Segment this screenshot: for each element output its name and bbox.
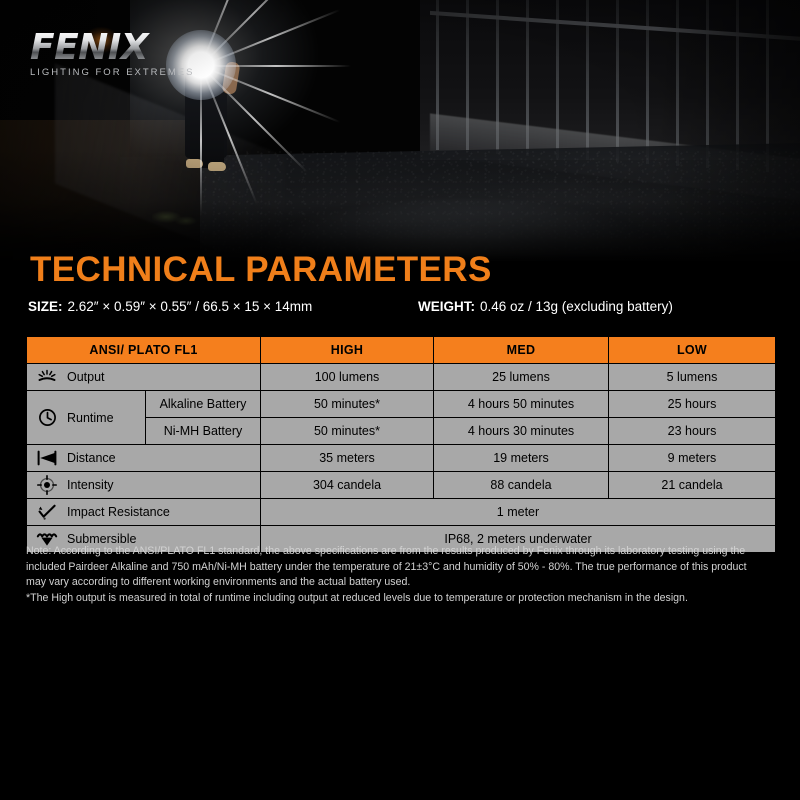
product-spec-page: FENIX LIGHTING FOR EXTREMES TECHNICAL PA… (0, 0, 800, 800)
technical-parameters-table: ANSI/ PLATO FL1 HIGH MED LOW (26, 336, 776, 553)
cell-impact-resistance-value: 1 meter (261, 499, 776, 526)
cell-runtime-alkaline-high: 50 minutes* (261, 391, 434, 418)
cell-intensity-low: 21 candela (609, 472, 776, 499)
header-low: LOW (609, 337, 776, 364)
intensity-crosshair-icon (36, 475, 58, 495)
row-label-distance: Distance (27, 445, 261, 472)
page-title: TECHNICAL PARAMETERS (30, 250, 492, 290)
cell-runtime-nimh-med: 4 hours 30 minutes (434, 418, 609, 445)
cell-output-med: 25 lumens (434, 364, 609, 391)
cell-runtime-alkaline-low: 25 hours (609, 391, 776, 418)
header-high: HIGH (261, 337, 434, 364)
cell-runtime-nimh-low: 23 hours (609, 418, 776, 445)
beam-distance-icon (36, 448, 58, 468)
weight-label: WEIGHT: (418, 299, 475, 314)
row-label-text: Impact Resistance (67, 505, 170, 519)
cell-runtime-nimh-high: 50 minutes* (261, 418, 434, 445)
weight-spec: WEIGHT:0.46 oz / 13g (excluding battery) (418, 299, 673, 314)
row-label-text: Output (67, 370, 105, 384)
size-label: SIZE: (28, 299, 63, 314)
row-label-intensity: Intensity (27, 472, 261, 499)
table-row-distance: Distance 35 meters 19 meters 9 meters (27, 445, 776, 472)
cell-intensity-med: 88 candela (434, 472, 609, 499)
logo-tagline: LIGHTING FOR EXTREMES (30, 67, 194, 78)
impact-resistance-icon (36, 502, 58, 522)
cell-intensity-high: 304 candela (261, 472, 434, 499)
row-label-text: Runtime (67, 411, 114, 425)
clock-icon (36, 408, 58, 428)
sun-burst-icon (36, 367, 58, 387)
table-header-row: ANSI/ PLATO FL1 HIGH MED LOW (27, 337, 776, 364)
sublabel-alkaline-battery: Alkaline Battery (146, 391, 261, 418)
row-label-impact-resistance: Impact Resistance (27, 499, 261, 526)
table-row-output: Output 100 lumens 25 lumens 5 lumens (27, 364, 776, 391)
cell-output-high: 100 lumens (261, 364, 434, 391)
table-row-intensity: Intensity 304 candela 88 candela 21 cand… (27, 472, 776, 499)
cell-distance-low: 9 meters (609, 445, 776, 472)
row-label-output: Output (27, 364, 261, 391)
table-row-runtime-alkaline: Runtime Alkaline Battery 50 minutes* 4 h… (27, 391, 776, 418)
row-label-runtime: Runtime (27, 391, 146, 445)
header-standard: ANSI/ PLATO FL1 (27, 337, 261, 364)
sublabel-nimh-battery: Ni-MH Battery (146, 418, 261, 445)
size-weight-line: SIZE:2.62″ × 0.59″ × 0.55″ / 66.5 × 15 ×… (28, 299, 772, 314)
fenix-logo: FENIX LIGHTING FOR EXTREMES (30, 30, 194, 78)
note-main: Note: According to the ANSI/PLATO FL1 st… (26, 544, 766, 591)
cell-runtime-alkaline-med: 4 hours 50 minutes (434, 391, 609, 418)
footnotes: Note: According to the ANSI/PLATO FL1 st… (26, 544, 766, 606)
note-footnote: *The High output is measured in total of… (26, 591, 766, 607)
row-label-text: Distance (67, 451, 116, 465)
weight-value: 0.46 oz / 13g (excluding battery) (480, 299, 673, 314)
size-value: 2.62″ × 0.59″ × 0.55″ / 66.5 × 15 × 14mm (68, 299, 313, 314)
cell-distance-med: 19 meters (434, 445, 609, 472)
table-row-impact-resistance: Impact Resistance 1 meter (27, 499, 776, 526)
header-med: MED (434, 337, 609, 364)
row-label-text: Intensity (67, 478, 114, 492)
cell-output-low: 5 lumens (609, 364, 776, 391)
logo-wordmark: FENIX (30, 30, 194, 66)
size-spec: SIZE:2.62″ × 0.59″ × 0.55″ / 66.5 × 15 ×… (28, 299, 418, 314)
cell-distance-high: 35 meters (261, 445, 434, 472)
